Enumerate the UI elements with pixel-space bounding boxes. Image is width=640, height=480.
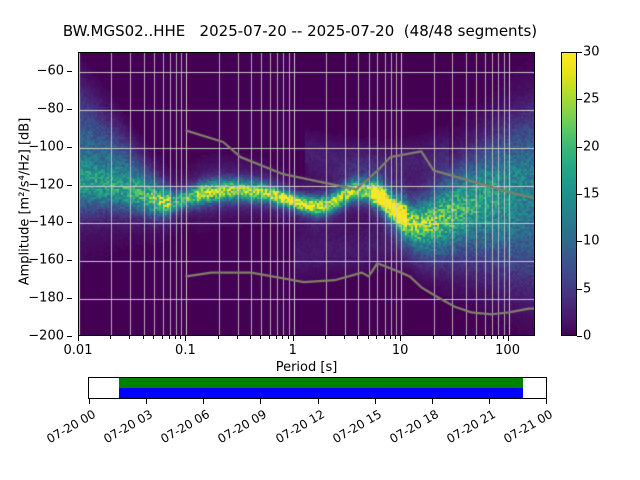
colorbar-tick xyxy=(577,336,582,337)
colorbar-tick xyxy=(577,52,582,53)
x-axis-minor-tick xyxy=(162,336,163,339)
x-axis-minor-tick xyxy=(325,336,326,339)
timeline-tick xyxy=(203,399,204,404)
timeline-tick-label: 07-21 00 xyxy=(494,407,555,450)
colorbar-tick-label: 25 xyxy=(583,92,600,107)
x-axis-minor-tick xyxy=(368,336,369,339)
colorbar-tick xyxy=(577,289,582,290)
colorbar-tick-label: 15 xyxy=(583,187,600,202)
timeline-tick xyxy=(146,399,147,404)
colorbar-tick xyxy=(577,147,582,148)
x-axis-minor-tick xyxy=(390,336,391,339)
y-axis-tick-label: −160 xyxy=(28,253,64,268)
x-axis-tick-label: 0.1 xyxy=(175,343,196,358)
data-coverage-blue xyxy=(119,388,523,398)
x-axis-major-tick xyxy=(293,336,294,341)
x-axis-minor-tick xyxy=(143,336,144,339)
x-axis-minor-tick xyxy=(288,336,289,339)
y-axis-tick xyxy=(67,222,72,223)
x-axis-minor-tick xyxy=(169,336,170,339)
timeline-tick xyxy=(546,399,547,404)
colorbar-tick xyxy=(577,194,582,195)
timeline-tick-label: 07-20 18 xyxy=(380,407,441,450)
x-axis-major-tick xyxy=(508,336,509,341)
x-axis-minor-tick xyxy=(376,336,377,339)
x-axis-label: Period [s] xyxy=(78,360,535,375)
y-axis-tick-label: −140 xyxy=(28,215,64,230)
x-axis-minor-tick xyxy=(465,336,466,339)
colorbar-tick-label: 5 xyxy=(583,281,591,296)
colorbar-tick xyxy=(577,241,582,242)
y-axis-tick-label: −180 xyxy=(28,291,64,306)
timeline-tick-label: 07-20 12 xyxy=(266,407,327,450)
x-axis-minor-tick xyxy=(276,336,277,339)
x-axis-minor-tick xyxy=(497,336,498,339)
timeline-coverage-bar[interactable] xyxy=(88,377,547,399)
data-coverage-green xyxy=(119,378,523,388)
x-axis-minor-tick xyxy=(451,336,452,339)
x-axis-minor-tick xyxy=(395,336,396,339)
ppsd-plot-area[interactable] xyxy=(78,52,535,336)
timeline-axis-ticks: 07-20 0007-20 0307-20 0607-20 0907-20 12… xyxy=(88,399,547,413)
timeline-tick xyxy=(489,399,490,404)
x-axis-minor-tick xyxy=(218,336,219,339)
x-axis-minor-tick xyxy=(344,336,345,339)
x-axis-minor-tick xyxy=(357,336,358,339)
x-axis-major-tick xyxy=(400,336,401,341)
x-axis-minor-tick xyxy=(180,336,181,339)
y-axis-tick xyxy=(67,260,72,261)
ppsd-figure: BW.MGS02..HHE 2025-07-20 -- 2025-07-20 (… xyxy=(0,0,640,480)
timeline-tick xyxy=(432,399,433,404)
x-axis-minor-tick xyxy=(475,336,476,339)
colorbar-tick-label: 10 xyxy=(583,234,600,249)
timeline-tick xyxy=(89,399,90,404)
x-axis-tick-label: 0.01 xyxy=(64,343,93,358)
timeline-tick-label: 07-20 15 xyxy=(323,407,384,450)
x-axis-major-tick xyxy=(185,336,186,341)
colorbar-tick-label: 30 xyxy=(583,45,600,60)
y-axis-tick xyxy=(67,336,72,337)
colorbar-tick-label: 0 xyxy=(583,329,591,344)
y-axis-tick xyxy=(67,185,72,186)
x-axis-minor-tick xyxy=(384,336,385,339)
x-axis-minor-tick xyxy=(503,336,504,339)
timeline-tick-label: 07-20 09 xyxy=(209,407,270,450)
y-axis-tick-label: −100 xyxy=(28,139,64,154)
y-axis-tick-label: −120 xyxy=(28,177,64,192)
x-axis-tick-label: 10 xyxy=(392,343,409,358)
x-axis-minor-tick xyxy=(175,336,176,339)
timeline-tick-label: 07-20 06 xyxy=(152,407,213,450)
colorbar-tick-label: 20 xyxy=(583,139,600,154)
timeline-tick xyxy=(318,399,319,404)
x-axis-minor-tick xyxy=(237,336,238,339)
y-axis-tick xyxy=(67,147,72,148)
ppsd-density-canvas xyxy=(79,53,535,336)
y-axis-tick-label: −60 xyxy=(37,63,64,78)
page-title: BW.MGS02..HHE 2025-07-20 -- 2025-07-20 (… xyxy=(0,22,600,40)
x-axis-tick-label: 1 xyxy=(289,343,297,358)
colorbar-ticks: 051015202530 xyxy=(561,52,621,336)
timeline-tick-label: 07-20 00 xyxy=(37,407,98,450)
x-axis-minor-tick xyxy=(491,336,492,339)
x-axis-minor-tick xyxy=(250,336,251,339)
x-axis-minor-tick xyxy=(110,336,111,339)
x-axis-minor-tick xyxy=(153,336,154,339)
y-axis-tick-label: −80 xyxy=(37,101,64,116)
x-axis-tick-label: 100 xyxy=(495,343,520,358)
y-axis-ticks: −60−80−100−120−140−160−180−200 xyxy=(0,52,72,336)
y-axis-tick xyxy=(67,298,72,299)
x-axis-minor-tick xyxy=(260,336,261,339)
y-axis-tick xyxy=(67,71,72,72)
timeline-tick-label: 07-20 21 xyxy=(437,407,498,450)
x-axis-minor-tick xyxy=(282,336,283,339)
timeline-tick xyxy=(375,399,376,404)
timeline-tick xyxy=(260,399,261,404)
y-axis-tick xyxy=(67,109,72,110)
x-axis-minor-tick xyxy=(129,336,130,339)
x-axis-minor-tick xyxy=(484,336,485,339)
timeline-tick-label: 07-20 03 xyxy=(94,407,155,450)
x-axis-ticks: 0.010.1110100 xyxy=(78,336,535,362)
x-axis-minor-tick xyxy=(433,336,434,339)
y-axis-tick-label: −200 xyxy=(28,329,64,344)
x-axis-minor-tick xyxy=(269,336,270,339)
x-axis-major-tick xyxy=(78,336,79,341)
colorbar-tick xyxy=(577,99,582,100)
